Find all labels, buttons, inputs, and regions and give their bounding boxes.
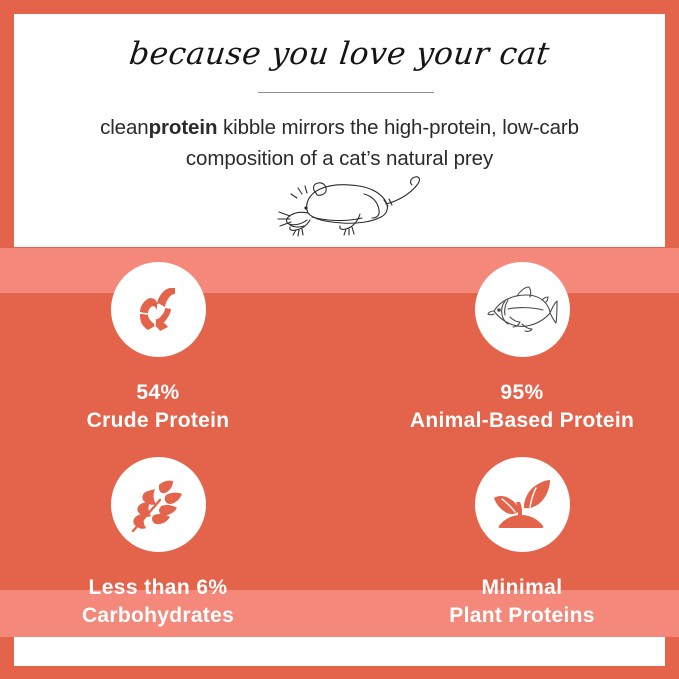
page-title: because you love your cat <box>12 36 667 72</box>
stat-value: Minimal <box>372 574 672 601</box>
stat-plant-proteins: Minimal Plant Proteins <box>372 457 672 630</box>
body-copy: cleanprotein kibble mirrors the high-pro… <box>54 112 625 174</box>
title-divider <box>258 92 434 93</box>
body-line-1-rest: kibble mirrors the high-protein, low-car… <box>217 116 579 139</box>
stat-carbohydrates: Less than 6% Carbohydrates <box>8 457 308 630</box>
plant-sprout-icon <box>475 457 570 552</box>
stat-value: 54% <box>8 379 308 406</box>
mouse-illustration <box>276 172 431 242</box>
body-line-1: cleanprotein kibble mirrors the high-pro… <box>100 116 579 139</box>
stat-value: 95% <box>372 379 672 406</box>
header-panel: because you love your cat cleanprotein k… <box>14 14 665 247</box>
infographic-card: because you love your cat cleanprotein k… <box>0 0 679 679</box>
stat-label: Crude Protein <box>8 406 308 435</box>
stat-animal-based-protein: 95% Animal-Based Protein <box>372 262 672 435</box>
brand-name-prefix: clean <box>100 116 149 139</box>
stat-label: Carbohydrates <box>8 601 308 630</box>
wheat-grain-icon <box>111 457 206 552</box>
protein-helix-icon <box>111 262 206 357</box>
stat-label: Plant Proteins <box>372 601 672 630</box>
stat-value: Less than 6% <box>8 574 308 601</box>
stat-label: Animal-Based Protein <box>372 406 672 435</box>
stat-crude-protein: 54% Crude Protein <box>8 262 308 435</box>
fish-icon <box>475 262 570 357</box>
footer-white-strip <box>14 637 665 666</box>
brand-name-bold: protein <box>149 116 218 139</box>
body-line-2: composition of a cat’s natural prey <box>186 147 493 170</box>
